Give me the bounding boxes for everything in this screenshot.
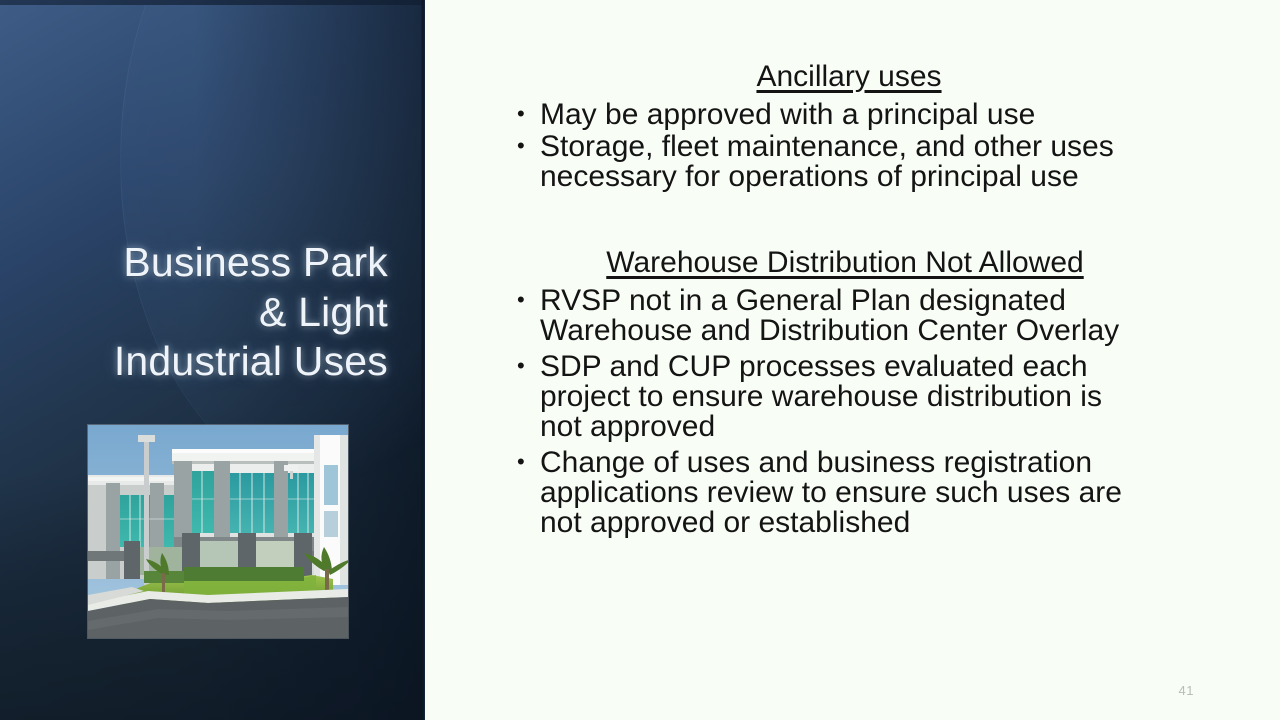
list-item: Storage, fleet maintenance, and other us… (517, 132, 1137, 192)
bullet-text: May be approved with a principal use (540, 100, 1137, 130)
list-item: SDP and CUP processes evaluated each pro… (517, 352, 1137, 442)
section-heading-ancillary-uses: Ancillary uses (489, 60, 1209, 94)
slide-page-number: 41 (1179, 683, 1194, 698)
sidebar-edge-divider (421, 0, 425, 720)
list-item: RVSP not in a General Plan designated Wa… (517, 286, 1137, 346)
building-photo-illustration (88, 425, 348, 638)
list-item: May be approved with a principal use (517, 100, 1137, 130)
bullet-list-ancillary-uses: May be approved with a principal use Sto… (517, 100, 1137, 194)
list-item: Change of uses and business registration… (517, 448, 1137, 538)
presentation-slide: Business Park & Light Industrial Uses (0, 0, 1280, 720)
slide-title: Business Park & Light Industrial Uses (20, 238, 388, 387)
slide-content: Ancillary uses May be approved with a pr… (429, 0, 1280, 720)
building-photo (88, 425, 348, 638)
bullet-text: Storage, fleet maintenance, and other us… (540, 132, 1137, 192)
section-heading-warehouse-distribution-not-allowed: Warehouse Distribution Not Allowed (475, 246, 1215, 280)
bullet-text: SDP and CUP processes evaluated each pro… (540, 352, 1137, 442)
sidebar-top-band (0, 0, 425, 5)
bullet-text: RVSP not in a General Plan designated Wa… (540, 286, 1137, 346)
bullet-list-warehouse-distribution: RVSP not in a General Plan designated Wa… (517, 286, 1137, 544)
bullet-text: Change of uses and business registration… (540, 448, 1137, 538)
